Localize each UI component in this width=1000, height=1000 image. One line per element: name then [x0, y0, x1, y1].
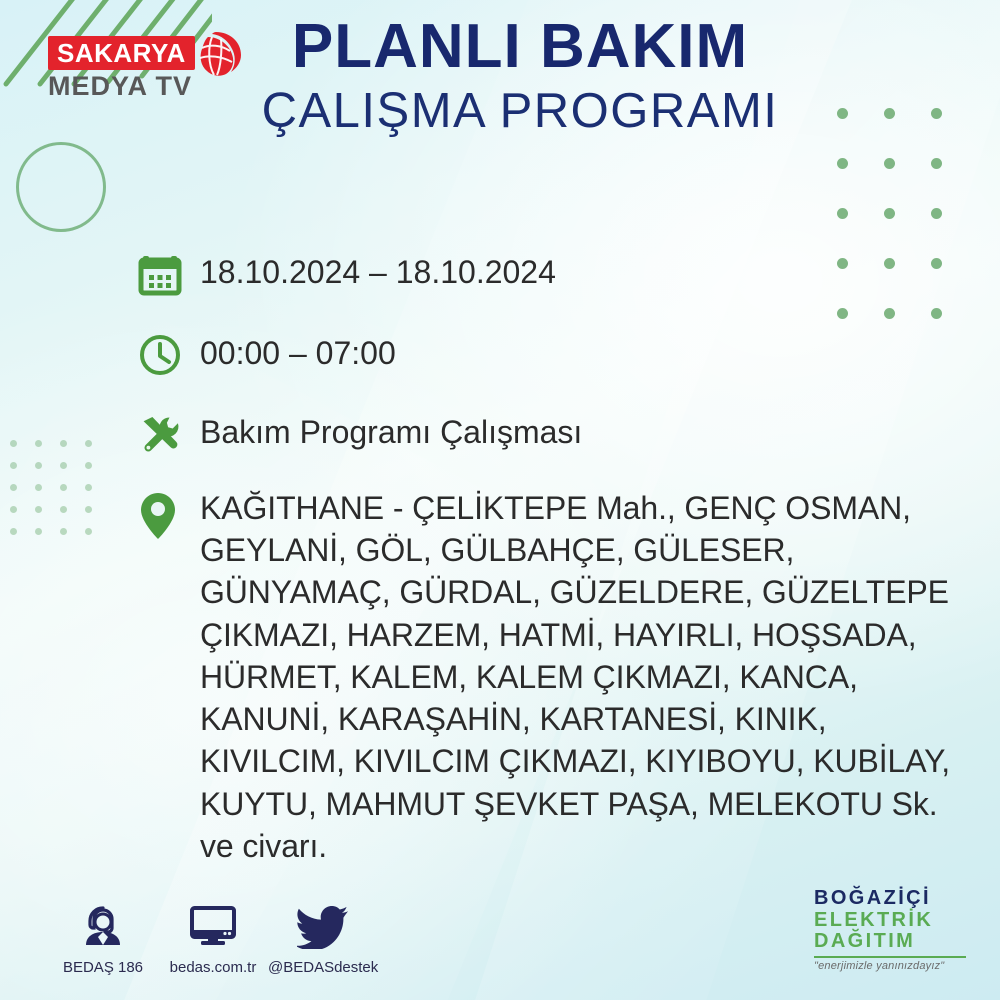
tools-icon [138, 410, 200, 461]
work-type-value: Bakım Programı Çalışması [200, 410, 582, 448]
info-row-time: 00:00 – 07:00 [138, 331, 978, 382]
contact-item-twitter[interactable]: @BEDASdestek [268, 899, 378, 976]
poster-root: SAKARYA MEDYA TV PLANLI BAKIM ÇALIŞMA PR… [0, 0, 1000, 1000]
support-headset-icon [48, 899, 158, 949]
bedas-logo-line-2: ELEKTRİK [814, 910, 974, 932]
location-pin-icon [138, 487, 200, 546]
bedas-logo-line-3: DAĞITIM [814, 931, 974, 953]
bedas-logo-tagline: "enerjimizle yanınızdayız" [814, 960, 974, 972]
contact-item-phone[interactable]: BEDAŞ 186 [48, 899, 158, 976]
time-range-value: 00:00 – 07:00 [200, 331, 396, 369]
contact-label-twitter: @BEDASdestek [268, 959, 378, 976]
contact-label-website: bedas.com.tr [158, 959, 268, 976]
footer: BEDAŞ 186 bedas.com.tr [0, 860, 1000, 1000]
dot-grid-left-decoration [10, 440, 110, 550]
monitor-icon [158, 899, 268, 949]
bedas-logo: BOĞAZİÇİ ELEKTRİK DAĞITIM "enerjimizle y… [814, 888, 974, 972]
twitter-bird-icon [268, 899, 378, 949]
calendar-icon [138, 250, 200, 301]
info-row-location: KAĞITHANE - ÇELİKTEPE Mah., GENÇ OSMAN, … [138, 487, 978, 867]
info-row-work: Bakım Programı Çalışması [138, 410, 978, 461]
headline-line-2: ÇALIŞMA PROGRAMI [170, 83, 870, 141]
bedas-logo-line-1: BOĞAZİÇİ [814, 888, 974, 910]
outline-circle-decoration [16, 142, 106, 232]
info-row-date: 18.10.2024 – 18.10.2024 [138, 250, 978, 301]
location-address-text: KAĞITHANE - ÇELİKTEPE Mah., GENÇ OSMAN, … [200, 487, 978, 867]
contact-item-website[interactable]: bedas.com.tr [158, 899, 268, 976]
contact-list: BEDAŞ 186 bedas.com.tr [48, 899, 378, 976]
headline-line-1: PLANLI BAKIM [170, 14, 870, 79]
page-title: PLANLI BAKIM ÇALIŞMA PROGRAMI [170, 14, 870, 141]
info-block: 18.10.2024 – 18.10.2024 00:00 – 07:00 [138, 250, 978, 867]
date-range-value: 18.10.2024 – 18.10.2024 [200, 250, 556, 288]
contact-label-phone: BEDAŞ 186 [48, 959, 158, 976]
bedas-logo-divider [814, 956, 966, 958]
clock-icon [138, 331, 200, 382]
